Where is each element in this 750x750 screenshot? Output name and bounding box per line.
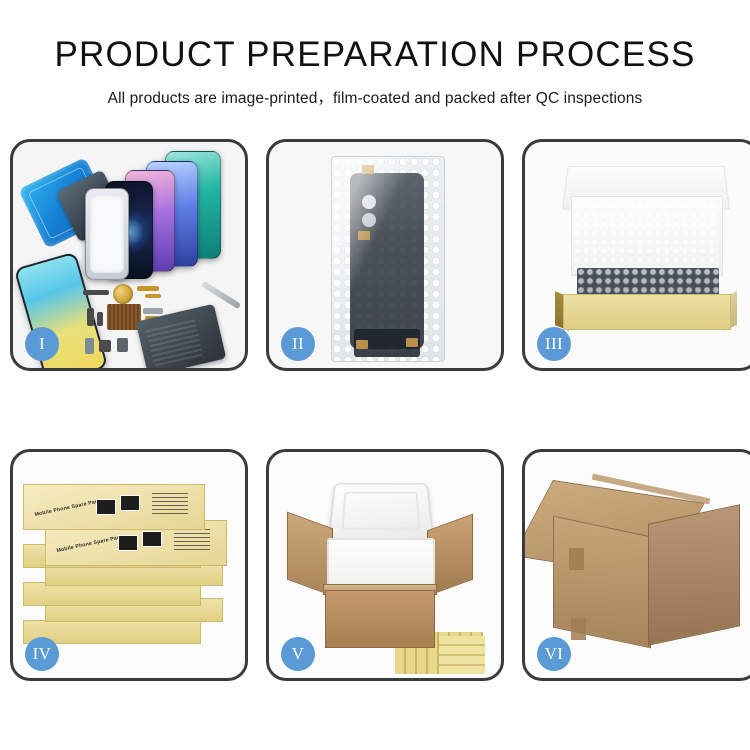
part-icon [117,338,128,352]
tape-icon [358,231,370,240]
panel-badge-5: V [281,637,315,671]
box-thumbnail-icon [118,535,138,551]
box-thumbnail-icon [96,499,116,515]
carton-foam-cooler-illustration: V [269,452,501,678]
process-panel-4: Mobile Phone Spare Parts Mobile Phone Sp… [10,449,248,681]
process-panel-3: III [522,139,750,371]
box-bullet-lines [152,492,188,514]
panel-badge-6: VI [537,637,571,671]
stacked-boxes-illustration: Mobile Phone Spare Parts Mobile Phone Sp… [13,452,245,678]
foam-sheet-icon [573,202,719,270]
bubble-wrapped-screen-illustration: II [269,142,501,368]
page-header: PRODUCT PREPARATION PROCESS All products… [0,0,750,108]
foam-lid-icon [328,483,435,541]
tape-icon [569,548,584,570]
panel-badge-1: I [25,327,59,361]
yellow-boxes-icon [439,636,485,674]
part-icon [99,340,111,352]
carton-right-face [648,504,740,646]
tape-icon [406,338,418,347]
phone-parts-illustration: I [13,142,245,368]
page-subtitle: All products are image-printed，film-coat… [0,86,750,108]
carton-front-panel [325,590,435,648]
panel-badge-4: IV [25,637,59,671]
box-front-panel [563,294,731,330]
process-panel-2: II [266,139,504,371]
phone-glass-icon [85,188,129,280]
part-icon [85,338,94,354]
wrapped-screen-icon [350,173,424,349]
part-icon [143,308,163,314]
part-icon [97,312,103,326]
part-icon [137,286,159,291]
part-icon [83,290,109,295]
tape-icon [356,340,368,349]
box-thumbnail-icon [142,531,162,547]
tape-icon [571,618,586,640]
process-panel-5: V [266,449,504,681]
panel-badge-3: III [537,327,571,361]
bubble-wrap-bag-icon [331,156,445,362]
box-thumbnail-icon [120,495,140,511]
tape-icon [362,165,374,174]
process-panel-1: I [10,139,248,371]
page-title: PRODUCT PREPARATION PROCESS [0,36,750,75]
process-panel-6: VI [522,449,750,681]
part-icon [145,294,161,298]
part-icon [87,308,94,326]
carton-left-face [553,516,651,649]
foam-box-illustration: III [525,142,750,368]
stacked-box-printed: Mobile Phone Spare Parts [23,484,205,530]
sealed-carton-illustration: VI [525,452,750,678]
panel-badge-2: II [281,327,315,361]
process-panel-grid: I II III [10,139,740,681]
box-bullet-lines [174,528,210,550]
